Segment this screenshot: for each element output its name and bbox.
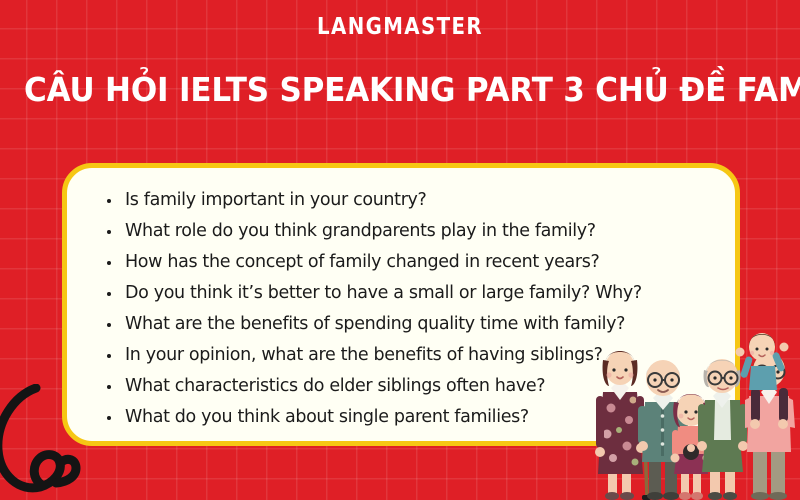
list-item: What role do you think grandparents play… xyxy=(107,216,735,247)
list-item: Is family important in your country? xyxy=(107,185,735,216)
family-group-illustration xyxy=(585,330,800,500)
poster-canvas: LANGMASTER CÂU HỎI IELTS SPEAKING PART 3… xyxy=(0,0,800,500)
list-item: Do you think it’s better to have a small… xyxy=(107,278,735,309)
page-title: CÂU HỎI IELTS SPEAKING PART 3 CHỦ ĐỀ FAM… xyxy=(24,70,776,110)
script-flourish-icon xyxy=(0,384,84,494)
figure-grandmother xyxy=(697,359,748,500)
list-item: How has the concept of family changed in… xyxy=(107,247,735,278)
brand-title: LANGMASTER xyxy=(56,14,744,41)
